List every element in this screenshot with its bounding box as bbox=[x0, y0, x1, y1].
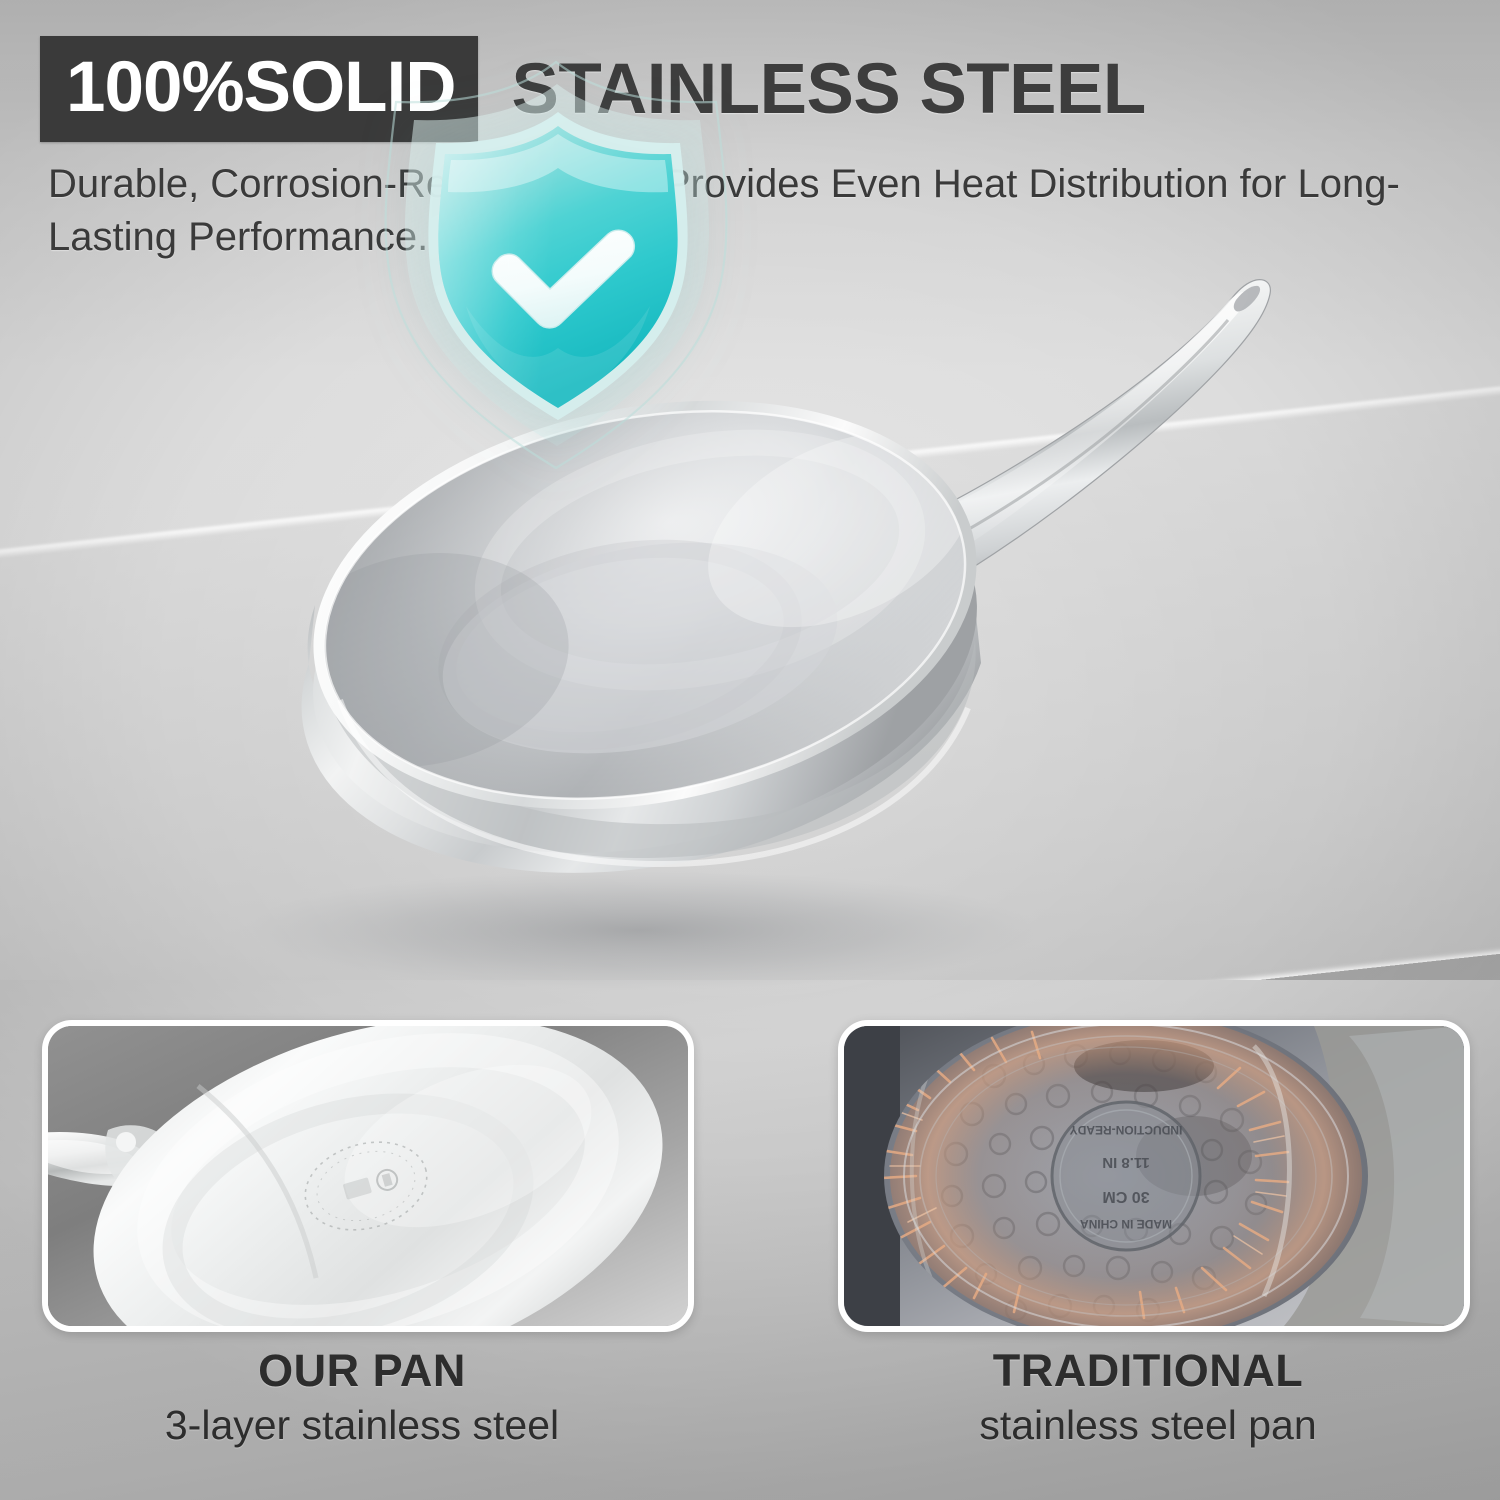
traditional-pan-title: TRADITIONAL bbox=[838, 1346, 1458, 1396]
traditional-pan-photo-panel[interactable]: MADE IN CHINA 30 CM 11.8 IN INDUCTION-RE… bbox=[838, 1020, 1470, 1332]
engraving-line-2: 30 CM bbox=[1102, 1188, 1149, 1205]
traditional-pan-subtitle: stainless steel pan bbox=[838, 1402, 1458, 1449]
engraving-line-4: INDUCTION-READY bbox=[1070, 1123, 1183, 1137]
our-pan-photo bbox=[48, 1026, 688, 1326]
product-infographic: 100%SOLID STAINLESS STEEL Durable, Corro… bbox=[0, 0, 1500, 1500]
traditional-pan-caption: TRADITIONAL stainless steel pan bbox=[838, 1346, 1458, 1449]
our-pan-title: OUR PAN bbox=[42, 1346, 682, 1396]
our-pan-caption: OUR PAN 3-layer stainless steel bbox=[42, 1346, 682, 1449]
our-pan-underside-illustration bbox=[48, 1026, 688, 1326]
our-pan-subtitle: 3-layer stainless steel bbox=[42, 1402, 682, 1449]
our-pan-photo-panel[interactable] bbox=[42, 1020, 694, 1332]
traditional-pan-underside-illustration: MADE IN CHINA 30 CM 11.8 IN INDUCTION-RE… bbox=[844, 1026, 1464, 1326]
engraving-line-3: 11.8 IN bbox=[1102, 1154, 1150, 1171]
traditional-pan-engraving: MADE IN CHINA 30 CM 11.8 IN INDUCTION-RE… bbox=[1052, 1102, 1200, 1250]
shield-check-icon bbox=[338, 48, 778, 508]
engraving-line-1: MADE IN CHINA bbox=[1080, 1217, 1172, 1231]
traditional-pan-photo: MADE IN CHINA 30 CM 11.8 IN INDUCTION-RE… bbox=[844, 1026, 1464, 1326]
